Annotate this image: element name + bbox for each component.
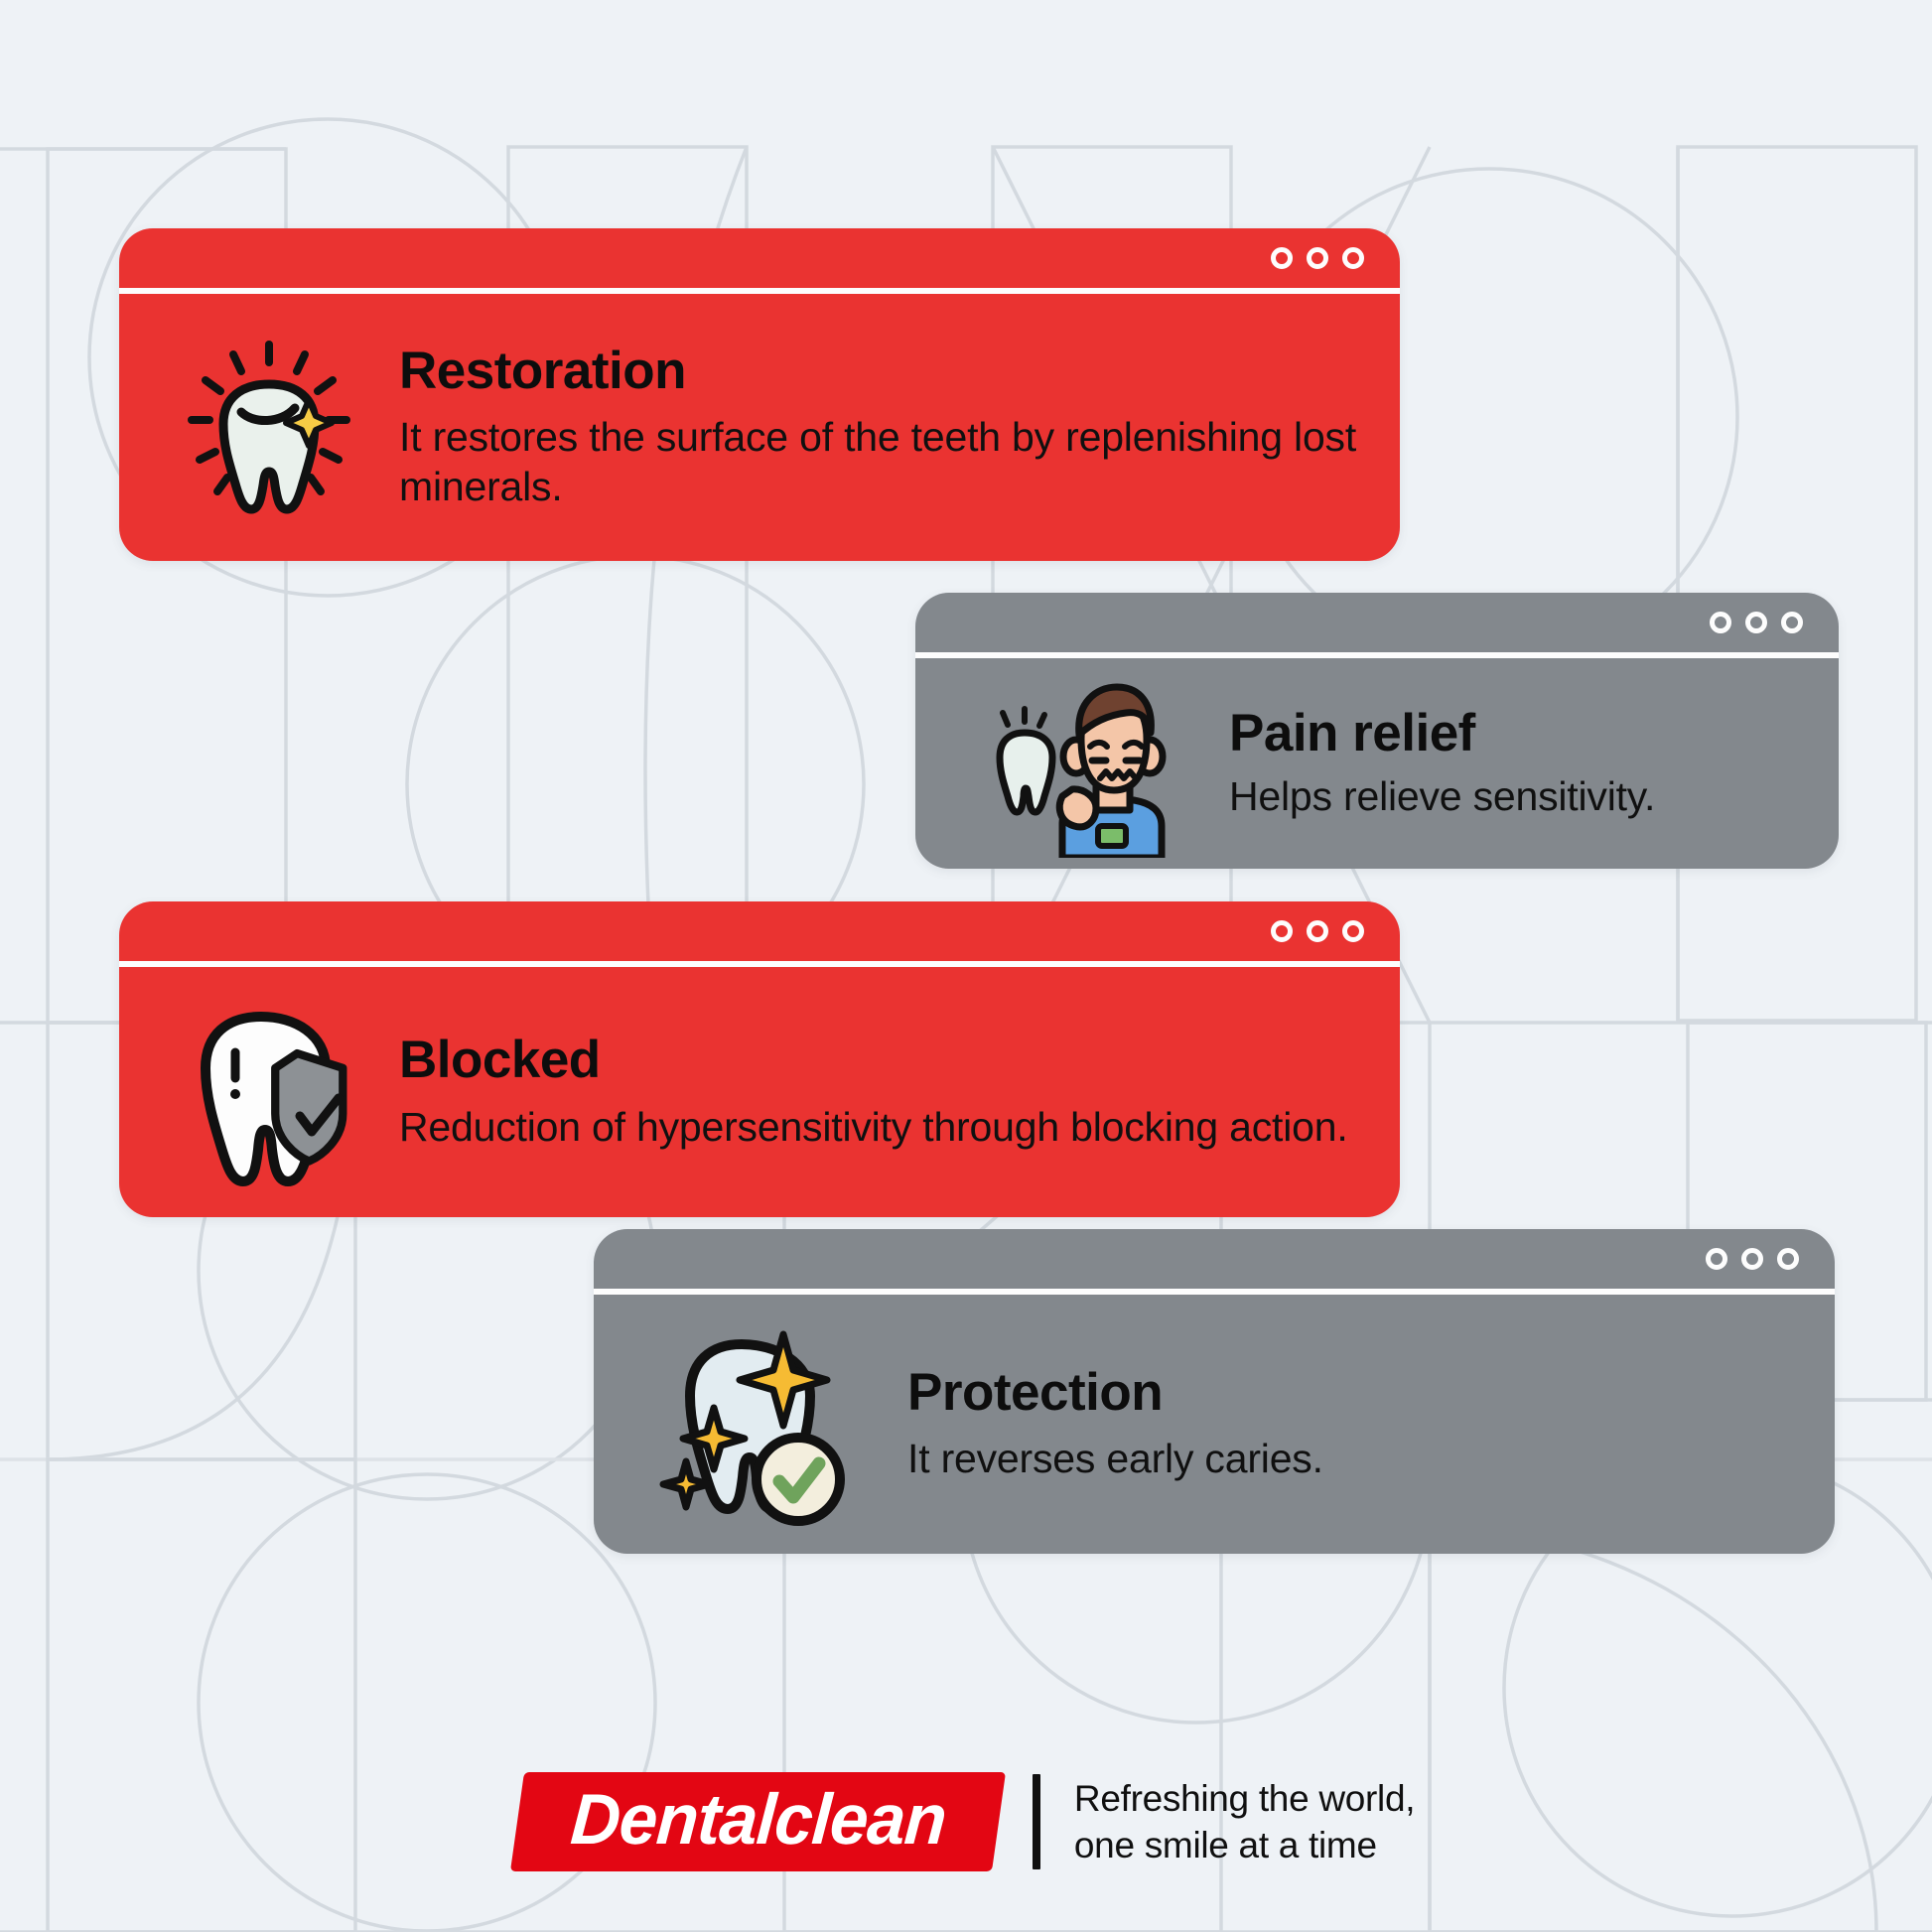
tooth-with-shield-icon [165, 988, 373, 1196]
card-pain-relief[interactable]: Pain relief Helps relieve sensitivity. [915, 593, 1839, 869]
card-text: Restoration It restores the surface of t… [373, 344, 1360, 512]
sparkling-tooth-check-icon [653, 1320, 862, 1529]
card-text: Protection It reverses early caries. [862, 1365, 1795, 1484]
footer-brand-bar: Dentalclean Refreshing the world, one sm… [0, 1747, 1932, 1896]
card-description: It restores the surface of the teeth by … [399, 412, 1360, 511]
logo-wordmark: Dentalclean [568, 1784, 948, 1856]
window-dot-3-icon[interactable] [1342, 920, 1364, 942]
card-description: It reverses early caries. [907, 1434, 1795, 1483]
window-dot-1-icon[interactable] [1706, 1248, 1727, 1270]
window-dot-3-icon[interactable] [1781, 612, 1803, 633]
window-dot-2-icon[interactable] [1741, 1248, 1763, 1270]
window-dot-1-icon[interactable] [1710, 612, 1731, 633]
card-body: Restoration It restores the surface of t… [119, 294, 1400, 561]
shining-tooth-icon [165, 324, 373, 532]
card-title: Pain relief [1229, 706, 1799, 761]
tagline-line-2: one smile at a time [1074, 1822, 1415, 1868]
man-with-toothache-icon [975, 659, 1183, 868]
window-dots [1706, 1248, 1799, 1270]
card-title: Restoration [399, 344, 1360, 399]
window-dots [1271, 920, 1364, 942]
window-dot-1-icon[interactable] [1271, 247, 1293, 269]
card-description: Helps relieve sensitivity. [1229, 771, 1799, 821]
card-body: Pain relief Helps relieve sensitivity. [915, 658, 1839, 869]
card-text: Pain relief Helps relieve sensitivity. [1183, 706, 1799, 821]
dentalclean-logo[interactable]: Dentalclean [510, 1772, 1006, 1871]
card-titlebar [119, 228, 1400, 294]
window-dot-2-icon[interactable] [1307, 247, 1328, 269]
window-dot-2-icon[interactable] [1307, 920, 1328, 942]
card-title: Protection [907, 1365, 1795, 1421]
card-titlebar [119, 901, 1400, 967]
card-blocked[interactable]: Blocked Reduction of hypersensitivity th… [119, 901, 1400, 1217]
card-description: Reduction of hypersensitivity through bl… [399, 1102, 1360, 1152]
brand-tagline: Refreshing the world, one smile at a tim… [1074, 1775, 1415, 1869]
window-dot-3-icon[interactable] [1342, 247, 1364, 269]
tagline-line-1: Refreshing the world, [1074, 1775, 1415, 1822]
window-dots [1271, 247, 1364, 269]
logo-divider [1033, 1774, 1040, 1869]
card-title: Blocked [399, 1033, 1360, 1088]
card-text: Blocked Reduction of hypersensitivity th… [373, 1033, 1360, 1152]
window-dot-2-icon[interactable] [1745, 612, 1767, 633]
card-titlebar [915, 593, 1839, 658]
window-dot-3-icon[interactable] [1777, 1248, 1799, 1270]
window-dots [1710, 612, 1803, 633]
card-body: Protection It reverses early caries. [594, 1295, 1835, 1554]
card-body: Blocked Reduction of hypersensitivity th… [119, 967, 1400, 1217]
card-restoration[interactable]: Restoration It restores the surface of t… [119, 228, 1400, 561]
card-titlebar [594, 1229, 1835, 1295]
window-dot-1-icon[interactable] [1271, 920, 1293, 942]
card-protection[interactable]: Protection It reverses early caries. [594, 1229, 1835, 1554]
